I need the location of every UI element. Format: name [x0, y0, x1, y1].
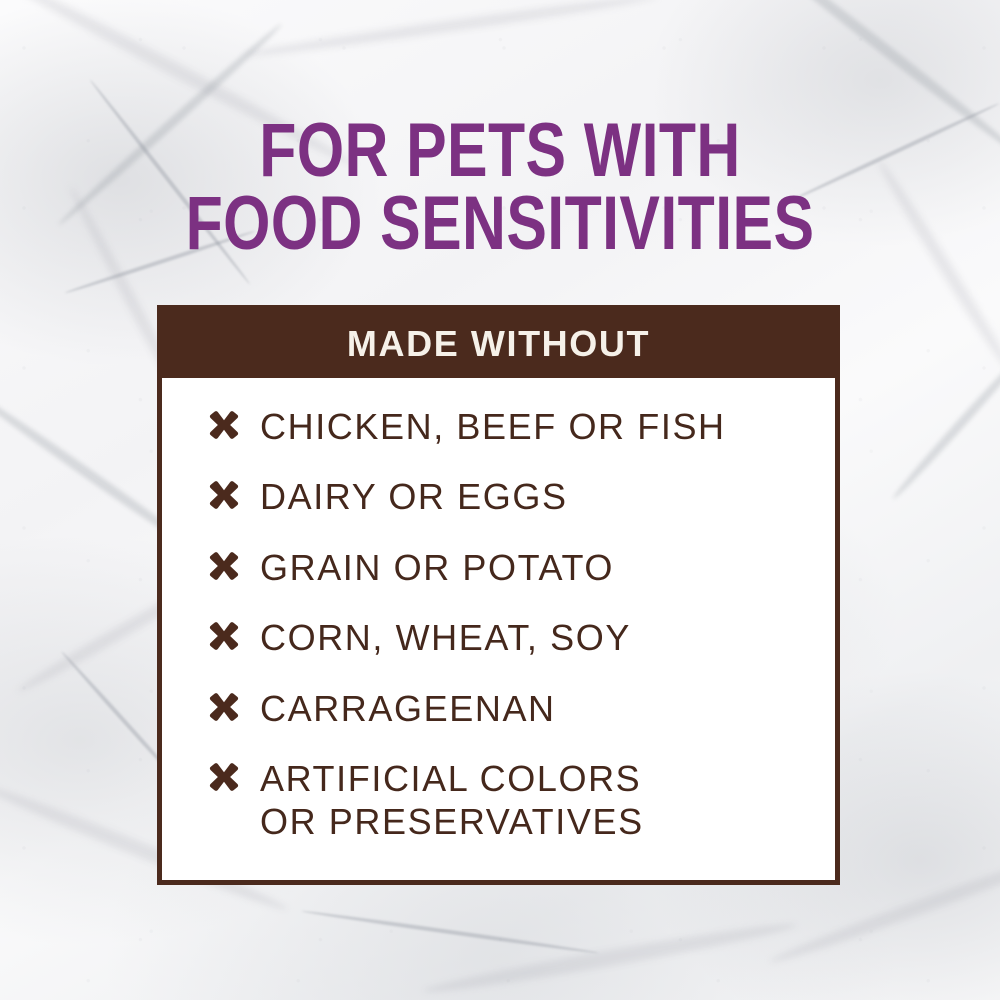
list-item-label: DAIRY OR EGGS	[260, 476, 568, 518]
product-infographic-poster: FOR PETS WITH FOOD SENSITIVITIES MADE WI…	[0, 0, 1000, 1000]
list-item: CORN, WHEAT, SOY	[207, 617, 835, 659]
x-mark-icon	[207, 690, 241, 724]
x-mark-icon	[207, 549, 241, 583]
x-mark-icon	[207, 408, 241, 442]
made-without-header: MADE WITHOUT	[162, 310, 835, 378]
made-without-card: MADE WITHOUT CHICKEN, BEEF OR FISH DAIRY…	[157, 305, 840, 885]
page-title: FOR PETS WITH FOOD SENSITIVITIES	[0, 118, 1000, 258]
made-without-header-title: MADE WITHOUT	[347, 326, 650, 362]
page-title-line-1: FOR PETS WITH	[100, 118, 900, 185]
x-mark-icon	[207, 619, 241, 653]
list-item: CARRAGEENAN	[207, 688, 835, 730]
list-item: GRAIN OR POTATO	[207, 547, 835, 589]
list-item-label: GRAIN OR POTATO	[260, 547, 614, 589]
list-item-label: CORN, WHEAT, SOY	[260, 617, 631, 659]
list-item: ARTIFICIAL COLORS OR PRESERVATIVES	[207, 758, 835, 843]
list-item-label: CARRAGEENAN	[260, 688, 556, 730]
list-item: CHICKEN, BEEF OR FISH	[207, 406, 835, 448]
list-item-label: ARTIFICIAL COLORS OR PRESERVATIVES	[260, 758, 644, 843]
made-without-list: CHICKEN, BEEF OR FISH DAIRY OR EGGS GRAI…	[162, 378, 835, 843]
page-title-line-2: FOOD SENSITIVITIES	[100, 191, 900, 258]
list-item-label: CHICKEN, BEEF OR FISH	[260, 406, 726, 448]
x-mark-icon	[207, 760, 241, 794]
x-mark-icon	[207, 478, 241, 512]
list-item: DAIRY OR EGGS	[207, 476, 835, 518]
